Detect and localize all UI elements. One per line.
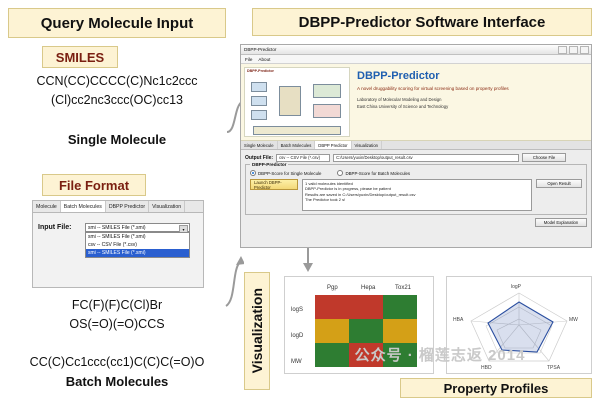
file-format-body: Input File: smi -- SMILES File (*.smi) ▾… <box>33 213 203 289</box>
query-molecule-input-panel: Query Molecule Input SMILES CCN(CC)CCCC(… <box>8 8 226 395</box>
batch-smiles-list: FC(F)(F)C(Cl)Br OS(=O)(=O)CCS CC(C)Cc1cc… <box>8 296 226 372</box>
smiles-section-label: SMILES <box>42 46 118 68</box>
input-file-label: Input File: <box>38 224 71 231</box>
banner-subtitle: A novel druggability scoring for virtual… <box>357 86 587 91</box>
logo-box-5 <box>313 84 341 98</box>
window-title: DBPP-Predictor <box>244 47 558 52</box>
input-file-type-options[interactable]: smi -- SMILES File (*.smi) csv -- CSV Fi… <box>85 232 190 258</box>
radar-axis-label-5: HBA <box>453 317 464 323</box>
radar-axis-label-3: TPSA <box>547 365 561 371</box>
heatmap-col-header-2: Hepa <box>361 285 376 291</box>
banner-title: DBPP-Predictor <box>357 70 587 82</box>
radio-single-label: DBPP-Score for Single Molecule <box>258 171 321 176</box>
logo-box-2 <box>251 96 267 106</box>
ff-tab-visualization[interactable]: Visualization <box>149 201 185 212</box>
banner-affiliation-2: East China University of Science and Tec… <box>357 103 587 110</box>
window-titlebar: DBPP-Predictor <box>241 45 591 55</box>
close-icon[interactable] <box>580 46 589 54</box>
logo-box-6 <box>313 104 341 118</box>
file-format-section-label: File Format <box>42 174 146 196</box>
software-body: Output File: csv -- CSV File (*.csv) C:/… <box>241 150 591 230</box>
window-controls[interactable] <box>558 46 591 54</box>
single-molecule-caption: Single Molecule <box>8 132 226 147</box>
file-format-window: Molecule Batch Molecules DBPP Predictor … <box>32 200 204 288</box>
option-smi-1[interactable]: smi -- SMILES File (*.smi) <box>86 233 189 241</box>
ff-tab-molecule[interactable]: Molecule <box>33 201 61 212</box>
radio-single-molecule[interactable]: DBPP-Score for Single Molecule <box>250 170 321 176</box>
batch-line-1: FC(F)(F)C(Cl)Br <box>8 296 226 315</box>
score-mode-radios: DBPP-Score for Single Molecule DBPP-Scor… <box>250 170 582 176</box>
logo-title: DBPP-Predictor <box>245 68 349 74</box>
software-tabbar: Single Molecule Batch Molecules DBPP Pre… <box>241 141 591 150</box>
log-line-4: The Predictor took 2 s! <box>305 197 529 202</box>
smiles-line-2: (Cl)cc2nc3ccc(OC)cc13 <box>8 91 226 110</box>
visualization-title: Visualization <box>244 272 270 390</box>
batch-line-3 <box>8 334 226 353</box>
smiles-line-1: CCN(CC)CCCC(C)Nc1c2ccc <box>8 72 226 91</box>
batch-line-2: OS(=O)(=O)CCS <box>8 315 226 334</box>
radio-dot-batch-icon <box>337 170 343 176</box>
heatmap-row-label-2: logD <box>291 333 304 339</box>
run-and-log-row: Launch DBPP-Predictor 1 valid molecules … <box>250 179 582 211</box>
output-file-row: Output File: csv -- CSV File (*.csv) C:/… <box>245 153 587 162</box>
model-explanation-button[interactable]: Model Explanation <box>535 218 587 227</box>
logo-box-1 <box>251 82 267 92</box>
choose-file-button[interactable]: Choose File <box>522 153 566 162</box>
batch-line-4: CC(C)Cc1ccc(cc1)C(C)C(=O)O <box>8 353 226 372</box>
heatmap-col-header-3: Tox21 <box>395 285 412 291</box>
banner-affiliation-1: Laboratory of Molecular Modeling and Des… <box>357 96 587 103</box>
arrow-batch-to-software <box>224 250 244 310</box>
ff-tab-batch-molecules[interactable]: Batch Molecules <box>61 201 106 212</box>
option-smi-2[interactable]: smi -- SMILES File (*.smi) <box>86 249 189 257</box>
footer-controls: Model Explanation <box>245 218 587 227</box>
smiles-string: CCN(CC)CCCC(C)Nc1c2ccc (Cl)cc2nc3ccc(OC)… <box>8 72 226 110</box>
maximize-icon[interactable] <box>569 46 578 54</box>
logo-box-4 <box>279 86 301 116</box>
banner: DBPP-Predictor DBPP-Predictor A novel dr… <box>241 64 591 141</box>
dbpp-predictor-window: DBPP-Predictor File About DBPP-Predictor… <box>240 44 592 248</box>
menu-about[interactable]: About <box>258 57 270 62</box>
batch-molecules-caption: Batch Molecules <box>8 374 226 389</box>
file-format-tabbar: Molecule Batch Molecules DBPP Predictor … <box>33 201 203 213</box>
banner-text: DBPP-Predictor A novel druggability scor… <box>353 64 591 140</box>
minimize-icon[interactable] <box>558 46 567 54</box>
radio-batch-label: DBPP-Score for Batch Molecules <box>345 171 410 176</box>
radar-axis-label-2: MW <box>569 317 578 323</box>
radio-dot-single-icon <box>250 170 256 176</box>
output-file-label: Output File: <box>245 155 273 161</box>
left-controls: Launch DBPP-Predictor <box>250 179 298 190</box>
group-title: DBPP-Predictor <box>250 162 288 167</box>
output-path-input[interactable]: C:/Users/yuxin/Desktop/output_result.csv <box>333 154 519 162</box>
tab-batch-molecules[interactable]: Batch Molecules <box>278 141 316 149</box>
tab-single-molecule[interactable]: Single Molecule <box>241 141 278 149</box>
logo-box-7 <box>253 126 341 135</box>
tab-dbpp-predictor[interactable]: DBPP Predictor <box>315 141 351 149</box>
option-csv[interactable]: csv -- CSV File (*.csv) <box>86 241 189 249</box>
watermark-text: 公众号 · 榴莲志返 2014 <box>300 344 580 365</box>
right-controls: Open Result <box>536 179 582 188</box>
ff-tab-dbpp-predictor[interactable]: DBPP Predictor <box>106 201 149 212</box>
query-molecule-input-title: Query Molecule Input <box>8 8 226 38</box>
property-profiles-caption: Property Profiles <box>400 378 592 398</box>
radio-batch-molecules[interactable]: DBPP-Score for Batch Molecules <box>337 170 410 176</box>
software-interface-title: DBPP-Predictor Software Interface <box>252 8 592 36</box>
log-output: 1 valid molecules identified DBPP-Predic… <box>302 179 532 211</box>
heatmap-col-header-1: Pgp <box>327 285 338 291</box>
radar-axis-label-1: logP <box>511 284 522 290</box>
workflow-logo-image: DBPP-Predictor <box>244 67 350 137</box>
menu-bar[interactable]: File About <box>241 55 591 64</box>
visualization-title-text: Visualization <box>249 288 265 373</box>
launch-dbpp-predictor-button[interactable]: Launch DBPP-Predictor <box>250 179 298 190</box>
heatmap-row-label-1: logS <box>291 307 303 313</box>
dbpp-predictor-group: DBPP-Predictor DBPP-Score for Single Mol… <box>245 164 587 215</box>
arrow-software-to-visualization <box>300 248 316 274</box>
output-file-type-select[interactable]: csv -- CSV File (*.csv) <box>276 154 330 162</box>
input-file-type-value: smi -- SMILES File (*.smi) <box>88 225 146 231</box>
tab-visualization[interactable]: Visualization <box>352 141 382 149</box>
logo-box-3 <box>251 110 267 120</box>
menu-file[interactable]: File <box>245 57 252 62</box>
input-file-type-select[interactable]: smi -- SMILES File (*.smi) ▾ <box>85 223 190 232</box>
radar-axis-label-4: HBD <box>481 365 492 371</box>
open-result-button[interactable]: Open Result <box>536 179 582 188</box>
